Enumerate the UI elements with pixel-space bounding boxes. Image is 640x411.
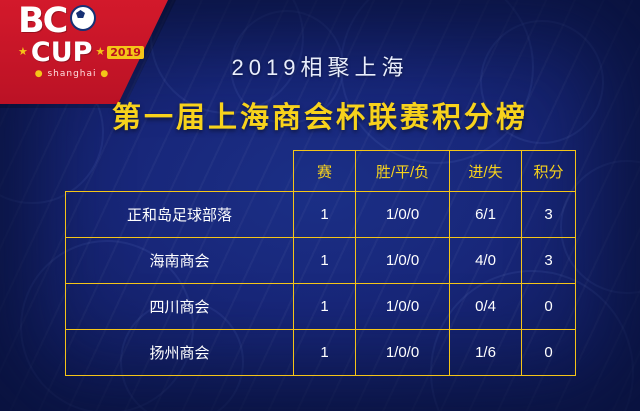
cell-team: 扬州商会 bbox=[66, 330, 294, 376]
cell-goals: 6/1 bbox=[450, 192, 522, 238]
cell-goals: 1/6 bbox=[450, 330, 522, 376]
column-header-goals: 进/失 bbox=[450, 151, 522, 192]
cell-wdl: 1/0/0 bbox=[356, 284, 450, 330]
cell-wdl: 1/0/0 bbox=[356, 238, 450, 284]
column-header-played: 赛 bbox=[294, 151, 356, 192]
star-icon: ★ bbox=[95, 47, 105, 58]
logo-dot-right: ● bbox=[100, 69, 109, 79]
star-icon: ★ bbox=[18, 47, 28, 58]
logo-dot-left: ● bbox=[35, 69, 44, 79]
cell-points: 0 bbox=[522, 284, 576, 330]
cell-points: 3 bbox=[522, 192, 576, 238]
table-row: 四川商会 1 1/0/0 0/4 0 bbox=[66, 284, 576, 330]
column-header-wdl: 胜/平/负 bbox=[356, 151, 450, 192]
logo-year-badge: 2019 bbox=[107, 46, 144, 59]
cell-team: 海南商会 bbox=[66, 238, 294, 284]
logo-mark-main: CUP bbox=[31, 39, 93, 66]
table-row: 海南商会 1 1/0/0 4/0 3 bbox=[66, 238, 576, 284]
logo-subtitle-text: shanghai bbox=[47, 69, 96, 79]
cell-team: 四川商会 bbox=[66, 284, 294, 330]
cell-played: 1 bbox=[294, 330, 356, 376]
standings-table-wrapper: 赛 胜/平/负 进/失 积分 正和岛足球部落 1 1/0/0 6/1 3 海南商… bbox=[65, 150, 575, 376]
cell-played: 1 bbox=[294, 284, 356, 330]
standings-table-body: 正和岛足球部落 1 1/0/0 6/1 3 海南商会 1 1/0/0 4/0 3… bbox=[66, 192, 576, 376]
tournament-logo: BC ★ CUP ★ 2019 ● shanghai ● bbox=[18, 4, 136, 96]
cell-played: 1 bbox=[294, 238, 356, 284]
table-row: 正和岛足球部落 1 1/0/0 6/1 3 bbox=[66, 192, 576, 238]
standings-table: 赛 胜/平/负 进/失 积分 正和岛足球部落 1 1/0/0 6/1 3 海南商… bbox=[65, 150, 576, 376]
soccer-ball-icon bbox=[70, 5, 96, 31]
cell-played: 1 bbox=[294, 192, 356, 238]
table-header-row: 赛 胜/平/负 进/失 积分 bbox=[66, 151, 576, 192]
logo-cup-row: ★ CUP ★ 2019 bbox=[18, 39, 136, 66]
cell-points: 3 bbox=[522, 238, 576, 284]
poster-root: BC ★ CUP ★ 2019 ● shanghai ● 2019相聚上海 第一… bbox=[0, 0, 640, 411]
logo-subtitle: ● shanghai ● bbox=[18, 69, 126, 79]
page-title: 第一届上海商会杯联赛积分榜 bbox=[0, 94, 640, 136]
cell-points: 0 bbox=[522, 330, 576, 376]
cell-wdl: 1/0/0 bbox=[356, 192, 450, 238]
cell-goals: 0/4 bbox=[450, 284, 522, 330]
table-row: 扬州商会 1 1/0/0 1/6 0 bbox=[66, 330, 576, 376]
column-header-points: 积分 bbox=[522, 151, 576, 192]
cell-team: 正和岛足球部落 bbox=[66, 192, 294, 238]
cell-goals: 4/0 bbox=[450, 238, 522, 284]
column-header-team bbox=[66, 151, 294, 192]
cell-wdl: 1/0/0 bbox=[356, 330, 450, 376]
standings-table-head: 赛 胜/平/负 进/失 积分 bbox=[66, 151, 576, 192]
